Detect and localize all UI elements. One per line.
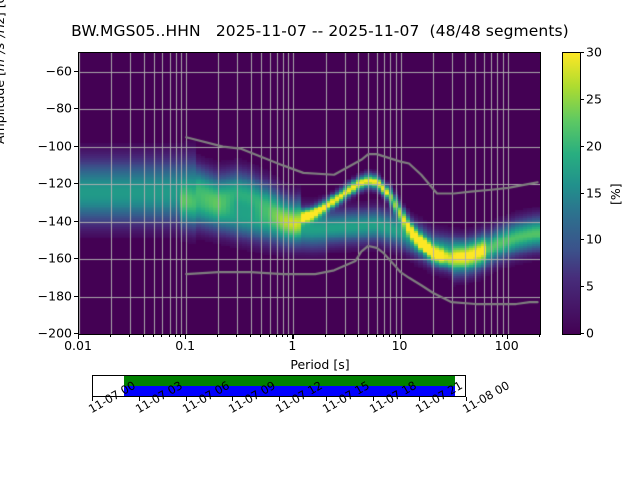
colorbar-tick-mark <box>580 333 584 334</box>
x-tick-mark-minor <box>153 334 154 337</box>
x-tick-mark-major <box>507 334 508 339</box>
y-tick-label: −120 <box>12 176 72 191</box>
y-axis-label: Amplitude [m2/s4/Hz] [dB] <box>0 0 7 193</box>
x-tick-mark-minor <box>451 334 452 337</box>
x-tick-mark-minor <box>376 334 377 337</box>
x-tick-mark-minor <box>169 334 170 337</box>
colorbar <box>562 52 581 335</box>
x-tick-mark-minor <box>250 334 251 337</box>
x-tick-mark-minor <box>129 334 130 337</box>
y-tick-label: −180 <box>12 288 72 303</box>
timeline-tick-mark <box>139 397 140 401</box>
timeline-tick-mark <box>186 397 187 401</box>
x-tick-mark-minor <box>175 334 176 337</box>
colorbar-tick-mark <box>580 193 584 194</box>
colorbar-tick-label: 25 <box>586 91 602 106</box>
timeline-tick-mark <box>232 397 233 401</box>
y-tick-label: −60 <box>12 63 72 78</box>
colorbar-tick-label: 5 <box>586 279 594 294</box>
colorbar-tick-label: 10 <box>586 232 602 247</box>
x-tick-mark-major <box>185 334 186 339</box>
colorbar-tick-label: 15 <box>586 185 602 200</box>
y-tick-label: −140 <box>12 213 72 228</box>
timeline-tick-mark <box>92 397 93 401</box>
timeline-tick-mark <box>279 397 280 401</box>
x-tick-label: 0.1 <box>175 338 195 353</box>
x-tick-mark-major <box>78 334 79 339</box>
x-tick-mark-major <box>292 334 293 339</box>
timeline-tick-mark <box>419 397 420 401</box>
x-tick-mark-minor <box>110 334 111 337</box>
x-tick-mark-minor <box>539 334 540 337</box>
x-tick-label: 10 <box>392 338 408 353</box>
x-tick-mark-minor <box>383 334 384 337</box>
colorbar-tick-label: 0 <box>586 326 594 341</box>
x-tick-mark-minor <box>325 334 326 337</box>
timeline-tick-mark <box>373 397 374 401</box>
y-tick-label: −200 <box>12 326 72 341</box>
colorbar-tick-mark <box>580 146 584 147</box>
x-tick-mark-minor <box>217 334 218 337</box>
x-tick-mark-minor <box>432 334 433 337</box>
x-tick-mark-minor <box>389 334 390 337</box>
x-tick-mark-minor <box>496 334 497 337</box>
timeline-tick-mark <box>466 397 467 401</box>
timeline-tick-mark <box>326 397 327 401</box>
colorbar-tick-label: 30 <box>586 45 602 60</box>
x-tick-mark-minor <box>483 334 484 337</box>
timeline-tick-label: 11-08 00 <box>460 378 512 416</box>
figure-title: BW.MGS05..HHN 2025-11-07 -- 2025-11-07 (… <box>0 22 640 40</box>
x-tick-mark-minor <box>161 334 162 337</box>
x-tick-mark-minor <box>464 334 465 337</box>
colorbar-tick-mark <box>580 239 584 240</box>
ppsd-density-canvas <box>79 53 540 334</box>
x-tick-mark-minor <box>260 334 261 337</box>
x-tick-mark-minor <box>269 334 270 337</box>
x-tick-mark-minor <box>180 334 181 337</box>
colorbar-tick-label: 20 <box>586 138 602 153</box>
colorbar-tick-mark <box>580 286 584 287</box>
y-tick-label: −100 <box>12 138 72 153</box>
x-tick-label: 0.01 <box>64 338 92 353</box>
x-tick-mark-minor <box>367 334 368 337</box>
y-tick-label: −160 <box>12 251 72 266</box>
x-tick-mark-minor <box>282 334 283 337</box>
x-tick-mark-minor <box>490 334 491 337</box>
x-tick-mark-major <box>400 334 401 339</box>
x-tick-mark-minor <box>502 334 503 337</box>
x-tick-label: 100 <box>495 338 519 353</box>
colorbar-tick-mark <box>580 99 584 100</box>
x-tick-mark-minor <box>143 334 144 337</box>
x-tick-mark-minor <box>344 334 345 337</box>
x-tick-mark-minor <box>474 334 475 337</box>
colorbar-label: [%] <box>608 183 623 205</box>
x-tick-mark-minor <box>276 334 277 337</box>
ppsd-figure: BW.MGS05..HHN 2025-11-07 -- 2025-11-07 (… <box>0 0 640 480</box>
ppsd-plot-area <box>78 52 541 335</box>
colorbar-tick-mark <box>580 52 584 53</box>
x-tick-mark-minor <box>236 334 237 337</box>
y-tick-label: −80 <box>12 101 72 116</box>
x-axis-label: Period [s] <box>0 357 640 372</box>
x-tick-mark-minor <box>357 334 358 337</box>
x-tick-mark-minor <box>395 334 396 337</box>
x-tick-mark-minor <box>287 334 288 337</box>
x-tick-label: 1 <box>288 338 296 353</box>
